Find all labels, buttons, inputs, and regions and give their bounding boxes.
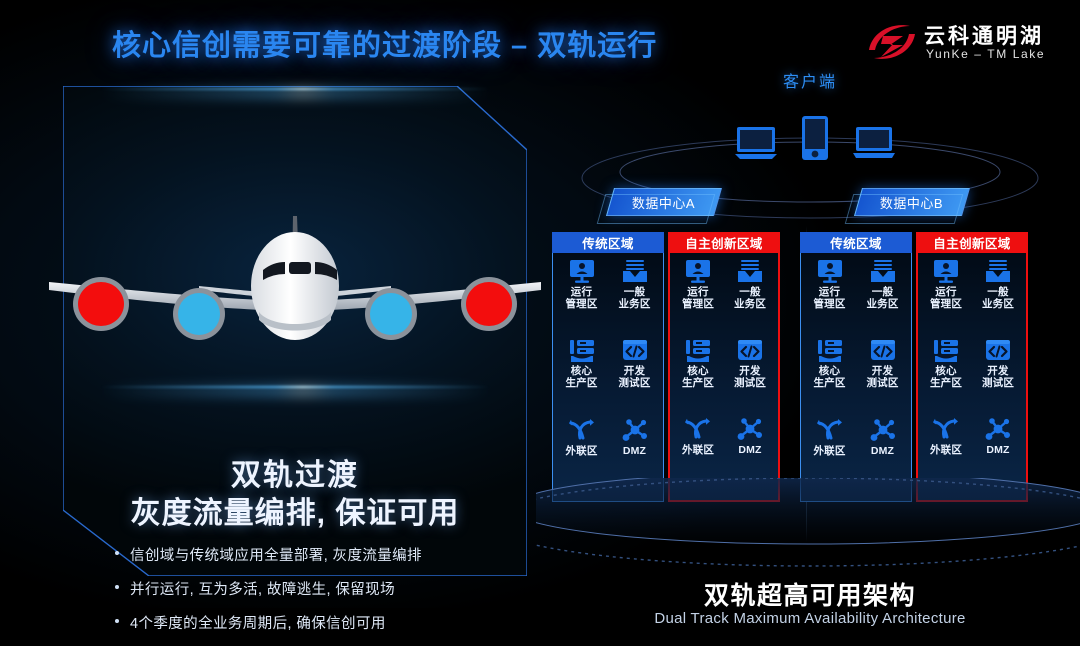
light-beam-bottom-glow bbox=[100, 386, 490, 396]
server-stack-icon bbox=[933, 338, 959, 362]
code-brackets-icon bbox=[985, 338, 1011, 362]
data-center-a-badge[interactable]: 数据中心A bbox=[606, 188, 722, 216]
network-nodes-icon bbox=[985, 417, 1011, 441]
inbox-tray-icon bbox=[985, 259, 1011, 283]
zone-cell[interactable]: 核心生产区 bbox=[672, 338, 724, 417]
zone-label: 核心生产区 bbox=[813, 365, 845, 389]
list-item: 信创域与传统域应用全量部署, 灰度流量编排 bbox=[113, 544, 523, 565]
server-stack-icon bbox=[569, 338, 595, 362]
lead-headline-2: 灰度流量编排, 保证可用 bbox=[63, 488, 527, 532]
zone-label: 外联区 bbox=[930, 444, 962, 456]
zone-cell[interactable]: 开发测试区 bbox=[724, 338, 776, 417]
list-item: 4个季度的全业务周期后, 确保信创可用 bbox=[113, 612, 523, 633]
zone-cell[interactable]: 运行管理区 bbox=[555, 259, 608, 338]
zone-cell[interactable]: 一般业务区 bbox=[608, 259, 661, 338]
zone-cell[interactable]: 开发测试区 bbox=[972, 338, 1024, 417]
zone-label: 核心生产区 bbox=[565, 365, 597, 389]
zone-label: 一般业务区 bbox=[734, 286, 766, 310]
zone-cell[interactable]: 一般业务区 bbox=[724, 259, 776, 338]
zone-label: 运行管理区 bbox=[930, 286, 962, 310]
zone-column-traditional-b[interactable]: 传统区域 运行管理区 一般业务区 核心生产区 开发测试区 外联区 bbox=[800, 232, 912, 502]
light-beam-top-glow bbox=[100, 88, 490, 98]
zone-label: 核心生产区 bbox=[930, 365, 962, 389]
code-brackets-icon bbox=[622, 338, 648, 362]
code-brackets-icon bbox=[870, 338, 896, 362]
user-monitor-icon bbox=[685, 259, 711, 283]
zone-label: 开发测试区 bbox=[734, 365, 766, 389]
zone-column-header: 自主创新区域 bbox=[668, 232, 780, 253]
zone-column-innovation-b[interactable]: 自主创新区域 运行管理区 一般业务区 核心生产区 开发测试区 外联区 bbox=[916, 232, 1028, 502]
network-nodes-icon bbox=[870, 418, 896, 442]
arrows-exchange-icon bbox=[933, 417, 959, 441]
architecture-subtitle: Dual Track Maximum Availability Architec… bbox=[540, 610, 1080, 627]
data-center-b-badge[interactable]: 数据中心B bbox=[854, 188, 970, 216]
zone-label: 运行管理区 bbox=[565, 286, 597, 310]
client-tier-label: 客户端 bbox=[540, 68, 1080, 92]
user-monitor-icon bbox=[933, 259, 959, 283]
inbox-tray-icon bbox=[622, 259, 648, 283]
zone-cell[interactable]: 运行管理区 bbox=[920, 259, 972, 338]
zone-column-header: 传统区域 bbox=[800, 232, 912, 253]
inbox-tray-icon bbox=[870, 259, 896, 283]
zone-cell[interactable]: 一般业务区 bbox=[856, 259, 909, 338]
zone-label: 开发测试区 bbox=[618, 365, 650, 389]
zone-cell[interactable]: 开发测试区 bbox=[856, 338, 909, 417]
zone-label: 外联区 bbox=[682, 444, 714, 456]
red-swoosh-logo-icon bbox=[866, 20, 918, 64]
zone-label: DMZ bbox=[623, 445, 646, 457]
logo-english-name: YunKe – TM Lake bbox=[926, 47, 1045, 61]
zone-cell[interactable]: 开发测试区 bbox=[608, 338, 661, 417]
zone-column-header: 自主创新区域 bbox=[916, 232, 1028, 253]
arrows-exchange-icon bbox=[569, 418, 595, 442]
zone-label: 核心生产区 bbox=[682, 365, 714, 389]
network-nodes-icon bbox=[737, 417, 763, 441]
arrows-exchange-icon bbox=[685, 417, 711, 441]
architecture-diagram: 客户端 数据中心A 数据中心B 传统区域 bbox=[540, 60, 1080, 608]
laptop-icon bbox=[853, 126, 895, 160]
network-nodes-icon bbox=[622, 418, 648, 442]
zone-column-header: 传统区域 bbox=[552, 232, 664, 253]
zone-label: 运行管理区 bbox=[682, 286, 714, 310]
architecture-title: 双轨超高可用架构 bbox=[540, 576, 1080, 612]
zone-column-innovation-a[interactable]: 自主创新区域 运行管理区 一般业务区 核心生产区 开发测试区 外联区 bbox=[668, 232, 780, 502]
zone-label: 开发测试区 bbox=[982, 365, 1014, 389]
zone-label: 外联区 bbox=[565, 445, 597, 457]
zone-cell[interactable]: 一般业务区 bbox=[972, 259, 1024, 338]
server-stack-icon bbox=[817, 338, 843, 362]
list-item: 并行运行, 互为多活, 故障逃生, 保留现场 bbox=[113, 578, 523, 599]
phone-icon bbox=[802, 116, 828, 160]
monitor-icon bbox=[735, 126, 777, 160]
arrows-exchange-icon bbox=[817, 418, 843, 442]
user-monitor-icon bbox=[569, 259, 595, 283]
user-monitor-icon bbox=[817, 259, 843, 283]
zone-label: 一般业务区 bbox=[618, 286, 650, 310]
zone-cell[interactable]: 核心生产区 bbox=[920, 338, 972, 417]
page-title: 核心信创需要可靠的过渡阶段 – 双轨运行 bbox=[112, 22, 657, 64]
zone-label: 开发测试区 bbox=[866, 365, 898, 389]
zone-cell[interactable]: 运行管理区 bbox=[672, 259, 724, 338]
zone-column-traditional-a[interactable]: 传统区域 运行管理区 一般业务区 核心生产区 开发测试区 外联区 bbox=[552, 232, 664, 502]
left-visual-panel: 双轨过渡 灰度流量编排, 保证可用 信创域与传统域应用全量部署, 灰度流量编排 … bbox=[63, 86, 527, 576]
code-brackets-icon bbox=[737, 338, 763, 362]
zone-label: DMZ bbox=[738, 444, 761, 456]
airplane-front-view-icon bbox=[49, 208, 541, 368]
inbox-tray-icon bbox=[737, 259, 763, 283]
zone-label: 一般业务区 bbox=[982, 286, 1014, 310]
client-device-group bbox=[735, 108, 895, 160]
zone-label: DMZ bbox=[986, 444, 1009, 456]
zone-cell[interactable]: 运行管理区 bbox=[803, 259, 856, 338]
bullet-list: 信创域与传统域应用全量部署, 灰度流量编排 并行运行, 互为多活, 故障逃生, … bbox=[113, 544, 523, 646]
zone-cell[interactable]: 核心生产区 bbox=[555, 338, 608, 417]
zone-label: 外联区 bbox=[813, 445, 845, 457]
zone-label: 一般业务区 bbox=[866, 286, 898, 310]
zone-label: 运行管理区 bbox=[813, 286, 845, 310]
zone-label: DMZ bbox=[871, 445, 894, 457]
server-stack-icon bbox=[685, 338, 711, 362]
zone-cell[interactable]: 核心生产区 bbox=[803, 338, 856, 417]
logo-chinese-name: 云科通明湖 bbox=[924, 20, 1044, 50]
